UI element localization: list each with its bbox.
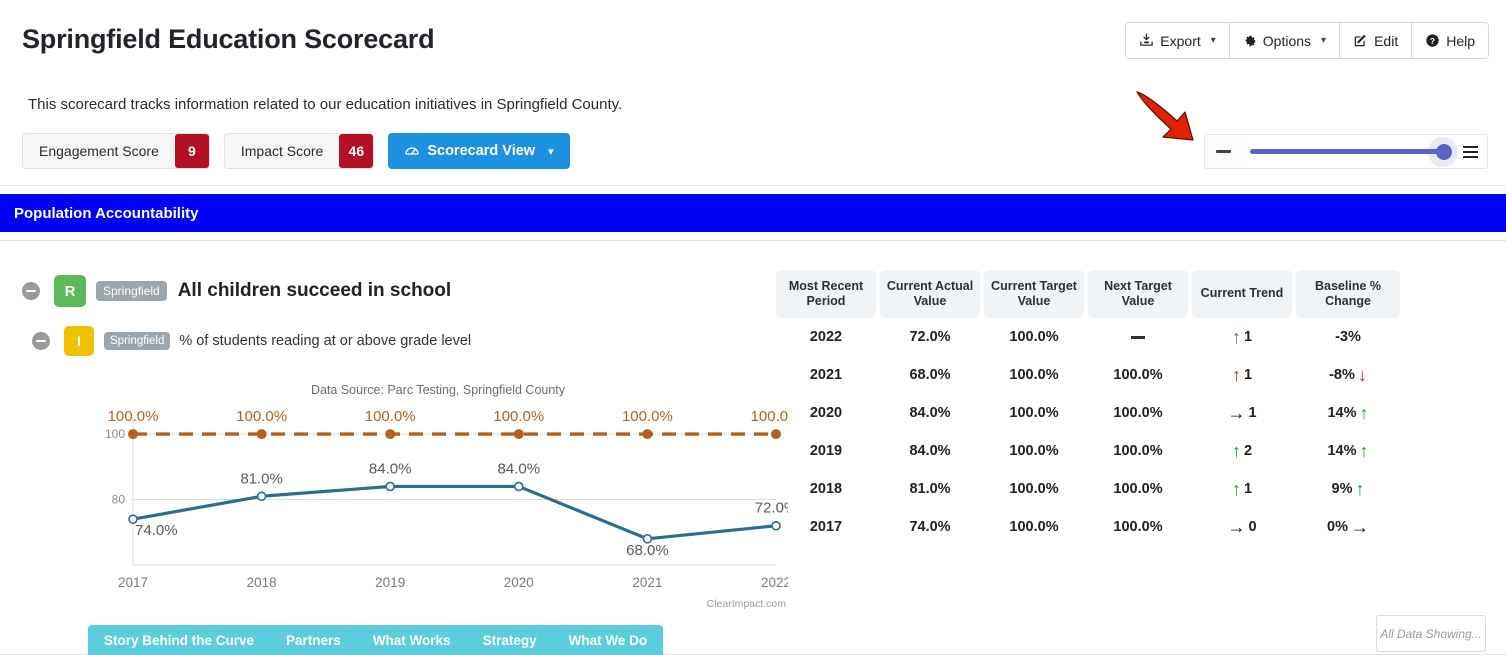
page-title: Springfield Education Scorecard [22, 24, 434, 55]
edit-button[interactable]: Edit [1340, 23, 1412, 58]
actual-point-label: 72.0% [755, 500, 788, 517]
x-tick-label: 2020 [504, 575, 534, 590]
target-point-label: 100.0% [751, 408, 788, 425]
target-point-label: 100.0% [365, 408, 416, 425]
actual-point [258, 492, 266, 500]
baseline-up-arrow-icon: ↑ [1360, 404, 1369, 422]
engagement-score-label: Engagement Score [23, 134, 175, 168]
gear-icon [1243, 34, 1257, 48]
baseline-up-arrow-icon: ↑ [1355, 480, 1364, 498]
x-tick-label: 2019 [375, 575, 405, 590]
actual-line [133, 486, 776, 538]
actual-point-label: 84.0% [498, 460, 541, 477]
indicator-tabs: Story Behind the CurvePartnersWhat Works… [88, 625, 663, 655]
trend-count: 1 [1244, 367, 1252, 383]
table-row: 202084.0%100.0%100.0%→114%↑ [776, 394, 1400, 432]
baseline-value: 14% [1327, 405, 1356, 421]
baseline-flat-arrow-icon: → [1351, 518, 1369, 536]
cell-current-trend: ↑1 [1192, 366, 1292, 384]
zoom-slider-rail [1250, 149, 1445, 154]
cell-actual-value: 68.0% [880, 367, 980, 383]
cell-target-value: 100.0% [984, 329, 1084, 345]
impact-score-value: 46 [339, 134, 373, 168]
edit-icon [1353, 33, 1368, 48]
column-header-most-recent-period: Most Recent Period [776, 270, 876, 318]
baseline-value: -8% [1329, 367, 1355, 383]
target-point [385, 429, 395, 439]
cell-baseline-pct-change: 14%↑ [1296, 442, 1400, 460]
cell-actual-value: 84.0% [880, 443, 980, 459]
dashboard-icon [404, 143, 420, 159]
cell-next-target-value: 100.0% [1088, 481, 1188, 497]
table-row: 201984.0%100.0%100.0%↑214%↑ [776, 432, 1400, 470]
x-tick-label: 2018 [247, 575, 277, 590]
x-tick-label: 2021 [632, 575, 662, 590]
baseline-value: 0% [1327, 519, 1348, 535]
help-button[interactable]: ? Help [1412, 23, 1488, 58]
cell-target-value: 100.0% [984, 443, 1084, 459]
y-tick-label: 100 [105, 427, 125, 441]
help-label: Help [1446, 33, 1475, 49]
trend-up-arrow-icon: ↑ [1232, 480, 1241, 498]
scorecard-page: Springfield Education Scorecard This sco… [0, 0, 1506, 655]
page-description: This scorecard tracks information relate… [28, 96, 622, 113]
indicator-row[interactable]: I Springfield % of students reading at o… [32, 326, 471, 356]
options-button[interactable]: Options ▾ [1230, 23, 1340, 58]
column-header-current-trend: Current Trend [1192, 270, 1292, 318]
header-toolbar: Export ▾ Options ▾ Edit ? Help [1125, 22, 1489, 59]
actual-point-label: 74.0% [135, 522, 178, 539]
target-point [128, 429, 138, 439]
cell-current-trend: →1 [1192, 404, 1292, 422]
zoom-out-button[interactable] [1205, 135, 1241, 168]
result-org-pill: Springfield [96, 281, 167, 301]
x-tick-label: 2022 [761, 575, 788, 590]
scorecard-view-label: Scorecard View [427, 143, 535, 159]
zoom-slider-thumb[interactable] [1436, 144, 1452, 160]
target-point-label: 100.0% [493, 408, 544, 425]
cell-period: 2021 [776, 367, 876, 383]
collapse-icon[interactable] [22, 282, 40, 300]
baseline-down-arrow-icon: ↓ [1358, 366, 1367, 384]
baseline-up-arrow-icon: ↑ [1360, 442, 1369, 460]
cell-target-value: 100.0% [984, 405, 1084, 421]
chevron-down-icon: ▾ [1321, 35, 1326, 46]
target-point [642, 429, 652, 439]
table-row: 202272.0%100.0%↑1-3% [776, 318, 1400, 356]
actual-point-label: 84.0% [369, 460, 412, 477]
baseline-value: 9% [1332, 481, 1353, 497]
export-label: Export [1160, 33, 1200, 49]
trend-flat-arrow-icon: → [1227, 404, 1245, 422]
cell-baseline-pct-change: 14%↑ [1296, 404, 1400, 422]
tab-strategy[interactable]: Strategy [467, 625, 553, 655]
cell-period: 2020 [776, 405, 876, 421]
annotation-arrow-icon [1133, 88, 1213, 148]
population-accountability-banner: Population Accountability [0, 194, 1506, 232]
export-icon [1139, 33, 1154, 48]
cell-period: 2019 [776, 443, 876, 459]
hamburger-icon[interactable] [1454, 135, 1487, 168]
cell-baseline-pct-change: -8%↓ [1296, 366, 1400, 384]
cell-target-value: 100.0% [984, 481, 1084, 497]
column-header-next-target-value: Next Target Value [1088, 270, 1188, 318]
actual-point-label: 68.0% [626, 542, 669, 559]
cell-target-value: 100.0% [984, 519, 1084, 535]
trend-flat-arrow-icon: → [1227, 518, 1245, 536]
cell-current-trend: ↑1 [1192, 328, 1292, 346]
target-point-label: 100.0% [108, 408, 159, 425]
column-header-current-target-value: Current Target Value [984, 270, 1084, 318]
all-data-showing-note: All Data Showing... [1376, 615, 1486, 652]
y-tick-label: 80 [112, 493, 126, 507]
indicator-title[interactable]: % of students reading at or above grade … [179, 333, 471, 349]
table-row: 201774.0%100.0%100.0%→00%→ [776, 508, 1400, 546]
measure-data-table: Most Recent Period Current Actual Value … [776, 270, 1400, 546]
tab-story-behind-the-curve[interactable]: Story Behind the Curve [88, 625, 270, 655]
cell-baseline-pct-change: 0%→ [1296, 518, 1400, 536]
column-header-baseline-pct-change: Baseline % Change [1296, 270, 1400, 318]
column-header-current-actual-value: Current Actual Value [880, 270, 980, 318]
cell-target-value: 100.0% [984, 367, 1084, 383]
cell-baseline-pct-change: 9%↑ [1296, 480, 1400, 498]
cell-actual-value: 84.0% [880, 405, 980, 421]
trend-count: 1 [1248, 405, 1256, 421]
trend-up-arrow-icon: ↑ [1232, 328, 1241, 346]
result-type-badge[interactable]: R [54, 275, 86, 307]
engagement-score-value: 9 [175, 134, 209, 168]
options-label: Options [1263, 33, 1311, 49]
chevron-down-icon: ▾ [1211, 35, 1216, 46]
baseline-value: 14% [1327, 443, 1356, 459]
tab-what-we-do[interactable]: What We Do [553, 625, 664, 655]
trend-count: 2 [1244, 443, 1252, 459]
cell-current-trend: ↑1 [1192, 480, 1292, 498]
actual-point-label: 81.0% [240, 470, 283, 487]
table-row: 202168.0%100.0%100.0%↑1-8%↓ [776, 356, 1400, 394]
cell-current-trend: ↑2 [1192, 442, 1292, 460]
trend-count: 1 [1244, 329, 1252, 345]
indicator-chart: Data Source: Parc Testing, Springfield C… [88, 383, 788, 608]
result-row[interactable]: R Springfield All children succeed in sc… [22, 275, 451, 307]
trend-count: 0 [1248, 519, 1256, 535]
table-row: 201881.0%100.0%100.0%↑19%↑ [776, 470, 1400, 508]
cell-next-target-value: 100.0% [1088, 405, 1188, 421]
zoom-slider-control[interactable] [1204, 134, 1488, 169]
page-header: Springfield Education Scorecard This sco… [0, 0, 1506, 186]
chart-source-note: Data Source: Parc Testing, Springfield C… [88, 383, 788, 397]
export-button[interactable]: Export ▾ [1126, 23, 1230, 58]
cell-next-target-value [1088, 336, 1188, 339]
help-icon: ? [1425, 33, 1440, 48]
minus-icon [1216, 150, 1231, 153]
cell-next-target-value: 100.0% [1088, 519, 1188, 535]
dash-icon [1131, 336, 1145, 339]
cell-next-target-value: 100.0% [1088, 443, 1188, 459]
table-body: 202272.0%100.0%↑1-3%202168.0%100.0%100.0… [776, 318, 1400, 546]
scorecard-panel: R Springfield All children succeed in sc… [0, 240, 1506, 655]
minus-icon [36, 340, 46, 343]
cell-next-target-value: 100.0% [1088, 367, 1188, 383]
zoom-slider[interactable] [1241, 135, 1454, 168]
table-header-row: Most Recent Period Current Actual Value … [776, 270, 1400, 318]
engagement-score-chip[interactable]: Engagement Score 9 [22, 133, 210, 169]
impact-score-chip[interactable]: Impact Score 46 [224, 133, 374, 169]
edit-label: Edit [1374, 33, 1398, 49]
x-tick-label: 2017 [118, 575, 148, 590]
target-point [771, 429, 781, 439]
cell-period: 2022 [776, 329, 876, 345]
impact-score-label: Impact Score [225, 134, 339, 168]
trend-up-arrow-icon: ↑ [1232, 442, 1241, 460]
actual-point [772, 522, 780, 530]
chart-canvas: 80100100.0%100.0%100.0%100.0%100.0%100.0… [88, 397, 788, 597]
actual-point [386, 482, 394, 490]
cell-current-trend: →0 [1192, 518, 1292, 536]
indicator-type-badge[interactable]: I [64, 326, 94, 356]
svg-text:?: ? [1430, 36, 1435, 46]
banner-title: Population Accountability [14, 205, 198, 222]
target-point-label: 100.0% [236, 408, 287, 425]
collapse-icon[interactable] [32, 332, 50, 350]
cell-baseline-pct-change: -3% [1296, 329, 1400, 345]
trend-count: 1 [1244, 481, 1252, 497]
cell-actual-value: 81.0% [880, 481, 980, 497]
chevron-down-icon: ▾ [548, 145, 554, 158]
score-chips: Engagement Score 9 Impact Score 46 Score… [22, 133, 570, 169]
target-point [514, 429, 524, 439]
trend-up-arrow-icon: ↑ [1232, 366, 1241, 384]
chart-watermark: ClearImpact.com [707, 598, 786, 610]
cell-period: 2017 [776, 519, 876, 535]
target-point-label: 100.0% [622, 408, 673, 425]
cell-actual-value: 74.0% [880, 519, 980, 535]
tab-partners[interactable]: Partners [270, 625, 357, 655]
tab-what-works[interactable]: What Works [357, 625, 467, 655]
target-point [257, 429, 267, 439]
indicator-org-pill: Springfield [104, 332, 170, 350]
result-title[interactable]: All children succeed in school [178, 280, 451, 302]
cell-actual-value: 72.0% [880, 329, 980, 345]
actual-point [515, 482, 523, 490]
scorecard-view-button[interactable]: Scorecard View ▾ [388, 133, 569, 169]
baseline-value: -3% [1335, 329, 1361, 345]
minus-icon [26, 290, 36, 293]
cell-period: 2018 [776, 481, 876, 497]
